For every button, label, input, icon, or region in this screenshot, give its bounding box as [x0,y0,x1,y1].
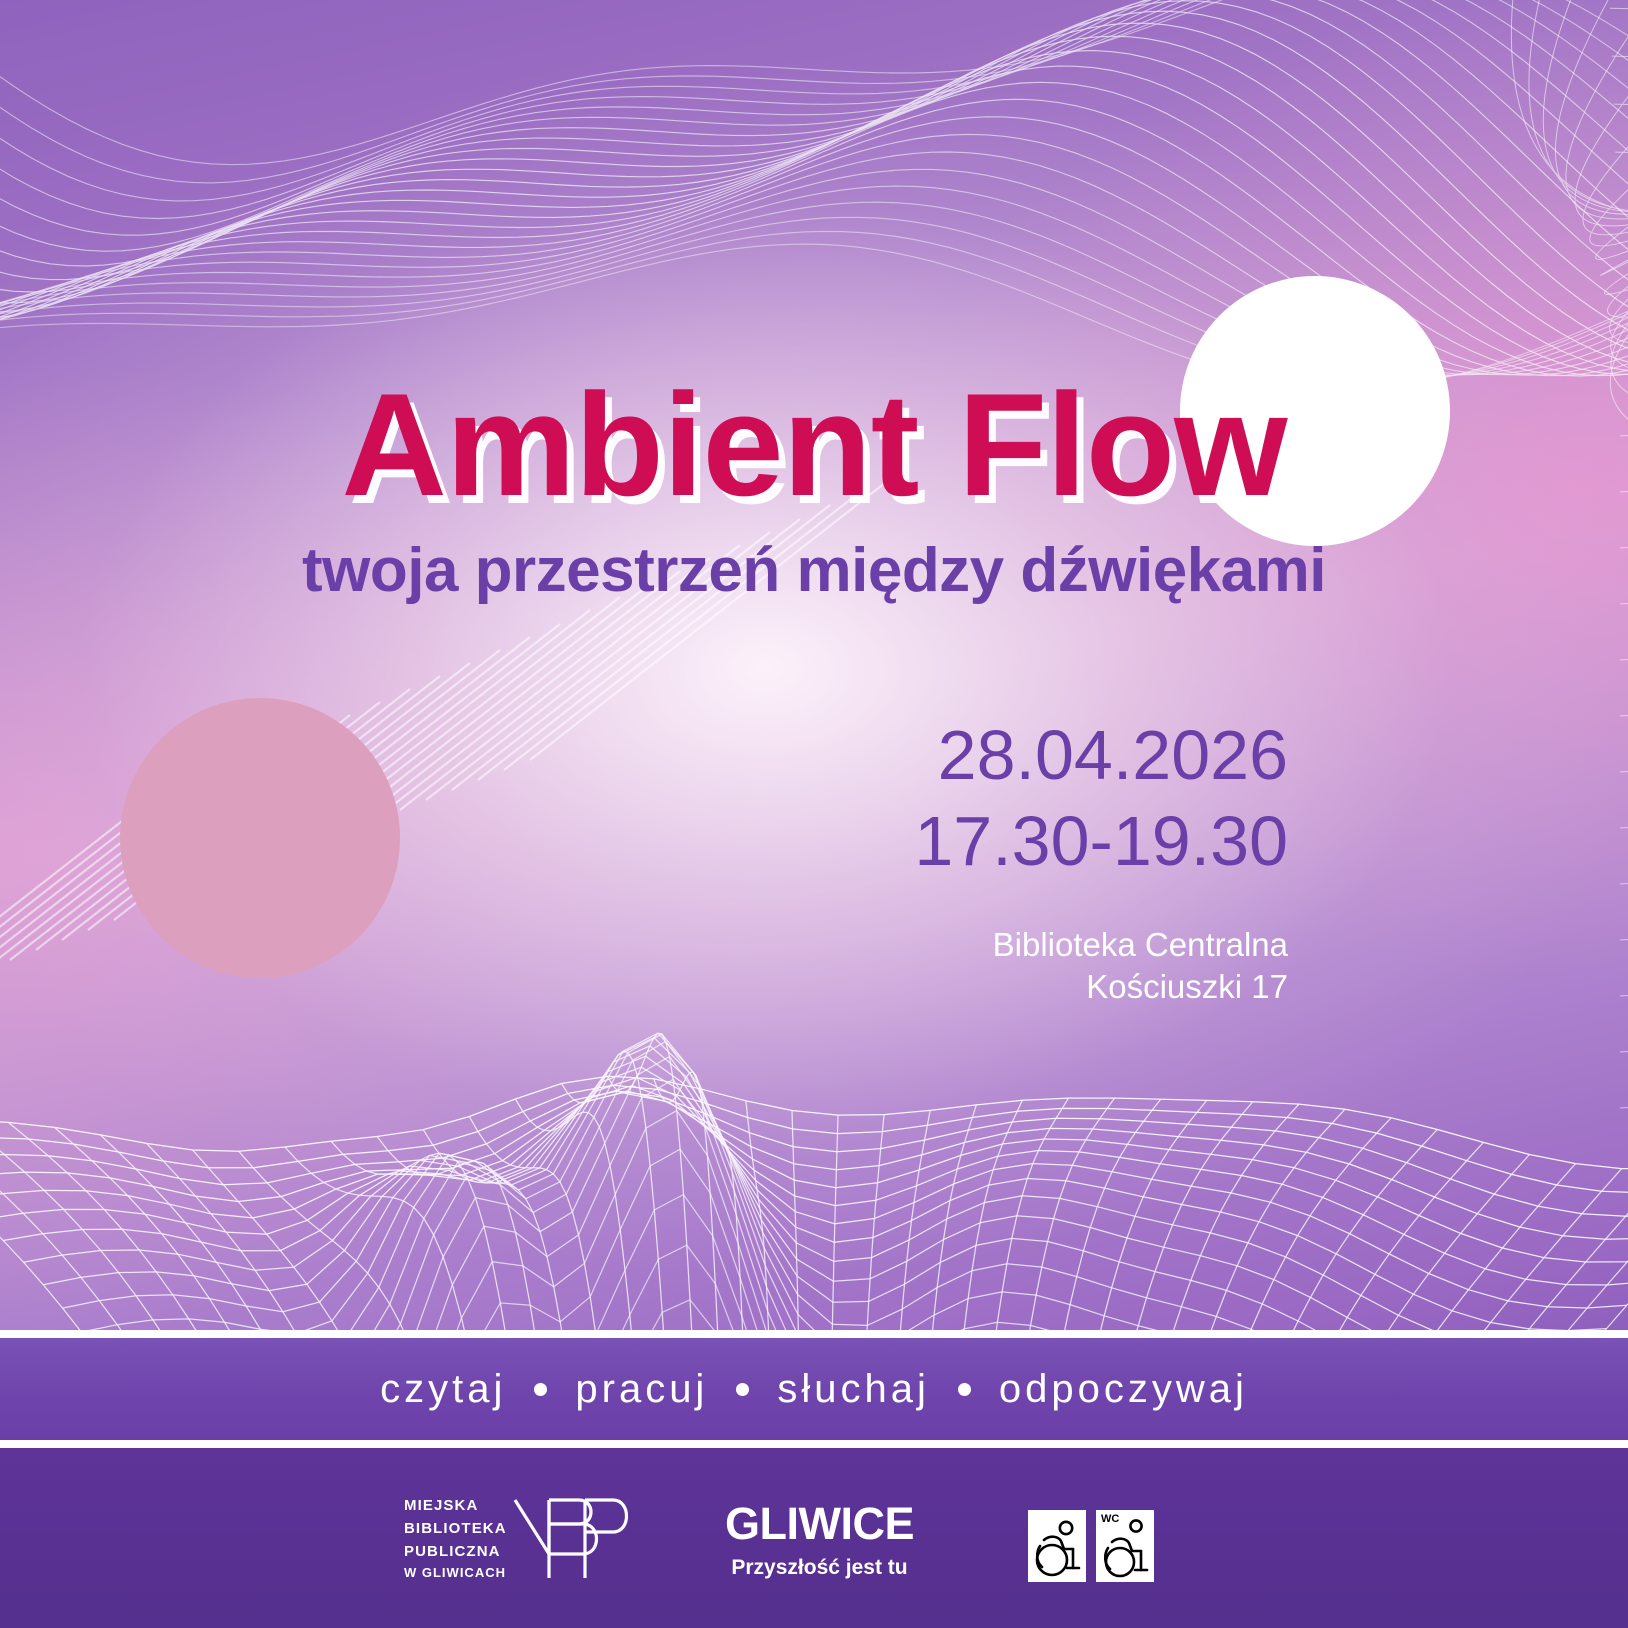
library-logo-line-3: PUBLICZNA [404,1541,507,1564]
tagline-band: czytaj pracuj słuchaj odpoczywaj [0,1338,1628,1440]
tagline-word-2: pracuj [547,1367,736,1412]
mbp-monogram-icon [509,1496,637,1582]
tagline-list: czytaj pracuj słuchaj odpoczywaj [352,1367,1276,1412]
tagline-separator-dot [736,1383,749,1396]
event-venue: Biblioteka Centralna Kościuszki 17 [688,924,1288,1008]
library-logo-wordmark: MIEJSKA BIBLIOTEKA PUBLICZNA W GLIWICACH [404,1495,509,1583]
venue-name: Biblioteka Centralna [688,924,1288,966]
library-logo: MIEJSKA BIBLIOTEKA PUBLICZNA W GLIWICACH [404,1495,637,1583]
wc-label: WC [1101,1514,1119,1525]
city-logo-name: GLIWICE [725,1501,914,1546]
event-date: 28.04.2026 [688,712,1288,798]
tagline-separator-dot [534,1383,547,1396]
tagline-word-3: słuchaj [749,1367,958,1412]
wheelchair-accessible-toilet-icon: WC [1096,1510,1154,1582]
library-logo-line-1: MIEJSKA [404,1495,507,1518]
venue-address: Kościuszki 17 [688,966,1288,1008]
tagline-separator-dot [958,1383,971,1396]
pink-circle-decoration [120,698,400,978]
poster-title: Ambient Flow [0,372,1628,518]
footer-bar: MIEJSKA BIBLIOTEKA PUBLICZNA W GLIWICACH [0,1448,1628,1628]
footer-content: MIEJSKA BIBLIOTEKA PUBLICZNA W GLIWICACH [0,1448,1628,1628]
library-logo-line-2: BIBLIOTEKA [404,1518,507,1541]
library-logo-line-4: W GLIWICACH [404,1563,507,1583]
event-poster: Ambient Flow twoja przestrzeń między dźw… [0,0,1628,1628]
tagline-word-1: czytaj [352,1367,534,1412]
city-logo: GLIWICE Przyszłość jest tu [725,1501,914,1578]
city-logo-claim: Przyszłość jest tu [725,1557,914,1578]
event-time: 17.30-19.30 [688,798,1288,884]
poster-subtitle: twoja przestrzeń między dźwiękami [0,538,1628,603]
tagline-word-4: odpoczywaj [971,1367,1276,1412]
wheelchair-accessible-icon [1028,1510,1086,1582]
event-info-block: 28.04.2026 17.30-19.30 Biblioteka Centra… [688,712,1288,1009]
accessibility-icons: WC [1028,1510,1154,1582]
divider-stripe-top [0,1330,1628,1338]
divider-stripe-bottom [0,1440,1628,1448]
headline-block: Ambient Flow twoja przestrzeń między dźw… [0,372,1628,603]
